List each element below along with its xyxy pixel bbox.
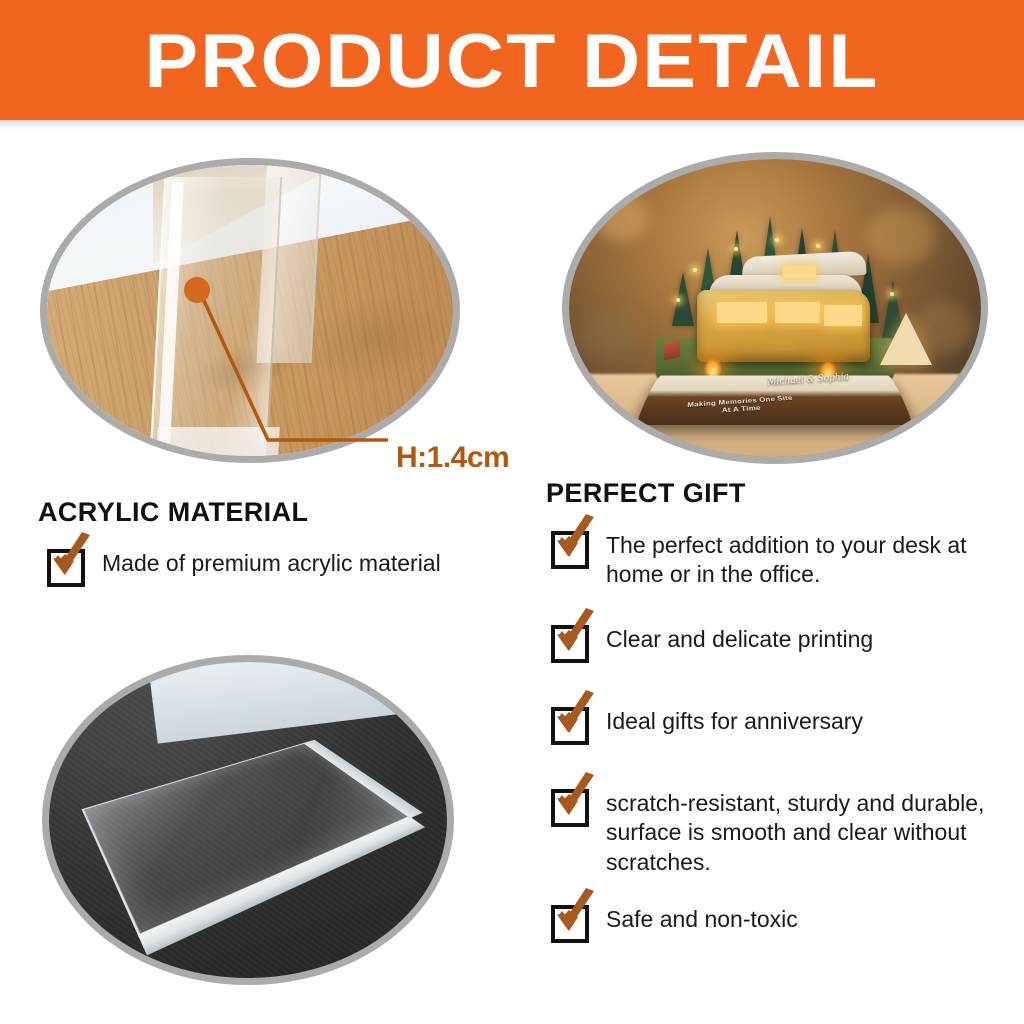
heading-acrylic-material: ACRYLIC MATERIAL [38,497,308,528]
van-window [717,302,766,323]
check-icon [548,609,602,663]
camp-chair [664,339,680,360]
string-light [693,268,697,272]
slate-surface-scene [49,662,447,978]
acrylic-block [81,743,411,938]
checkbox-checked[interactable] [548,898,592,942]
check-icon [548,515,602,569]
dimension-label: H:1.4cm [396,441,509,475]
bokeh-light [594,195,648,241]
product-photo: Michael & Sophia Making Memories One Sit… [562,152,988,464]
feature-text: The perfect addition to your desk at hom… [606,531,1024,590]
feature-text: Clear and delicate printing [606,625,873,654]
check-icon [548,691,602,745]
feature-text: Made of premium acrylic material [102,549,441,578]
header-shadow [0,120,1024,130]
heading-perfect-gift: PERFECT GIFT [546,478,746,509]
wood-table-scene [47,165,453,456]
acrylic-base-edge [156,427,279,456]
acrylic-edge-photo [40,158,460,463]
feature-text: scratch-resistant, sturdy and durable, s… [606,789,1024,877]
van-window [824,305,861,326]
check-icon [548,773,602,827]
feature-item: Clear and delicate printing [548,618,873,662]
feature-item: The perfect addition to your desk at hom… [548,524,1024,590]
feature-item: scratch-resistant, sturdy and durable, s… [548,782,1024,877]
background-backdrop [149,655,454,744]
van-window [775,302,820,323]
check-icon [548,889,602,943]
check-icon [44,533,98,587]
feature-text: Ideal gifts for anniversary [606,707,863,736]
page-title: PRODUCT DETAIL [0,0,1024,120]
checkbox-checked[interactable] [548,782,592,826]
acrylic-block-photo [42,655,454,985]
checkbox-checked[interactable] [44,542,88,586]
feature-item: Made of premium acrylic material [44,542,441,586]
feature-item: Safe and non-toxic [548,898,798,942]
van-roof-window [783,266,816,278]
string-light [816,244,820,248]
checkbox-checked[interactable] [548,524,592,568]
bokeh-light [577,308,639,362]
feature-item: Ideal gifts for anniversary [548,700,863,744]
checkbox-checked[interactable] [548,618,592,662]
camping-tent [880,313,932,365]
camper-diorama-scene: Michael & Sophia Making Memories One Sit… [569,159,981,457]
checkbox-checked[interactable] [548,700,592,744]
feature-text: Safe and non-toxic [606,905,798,934]
campfire [705,359,721,377]
